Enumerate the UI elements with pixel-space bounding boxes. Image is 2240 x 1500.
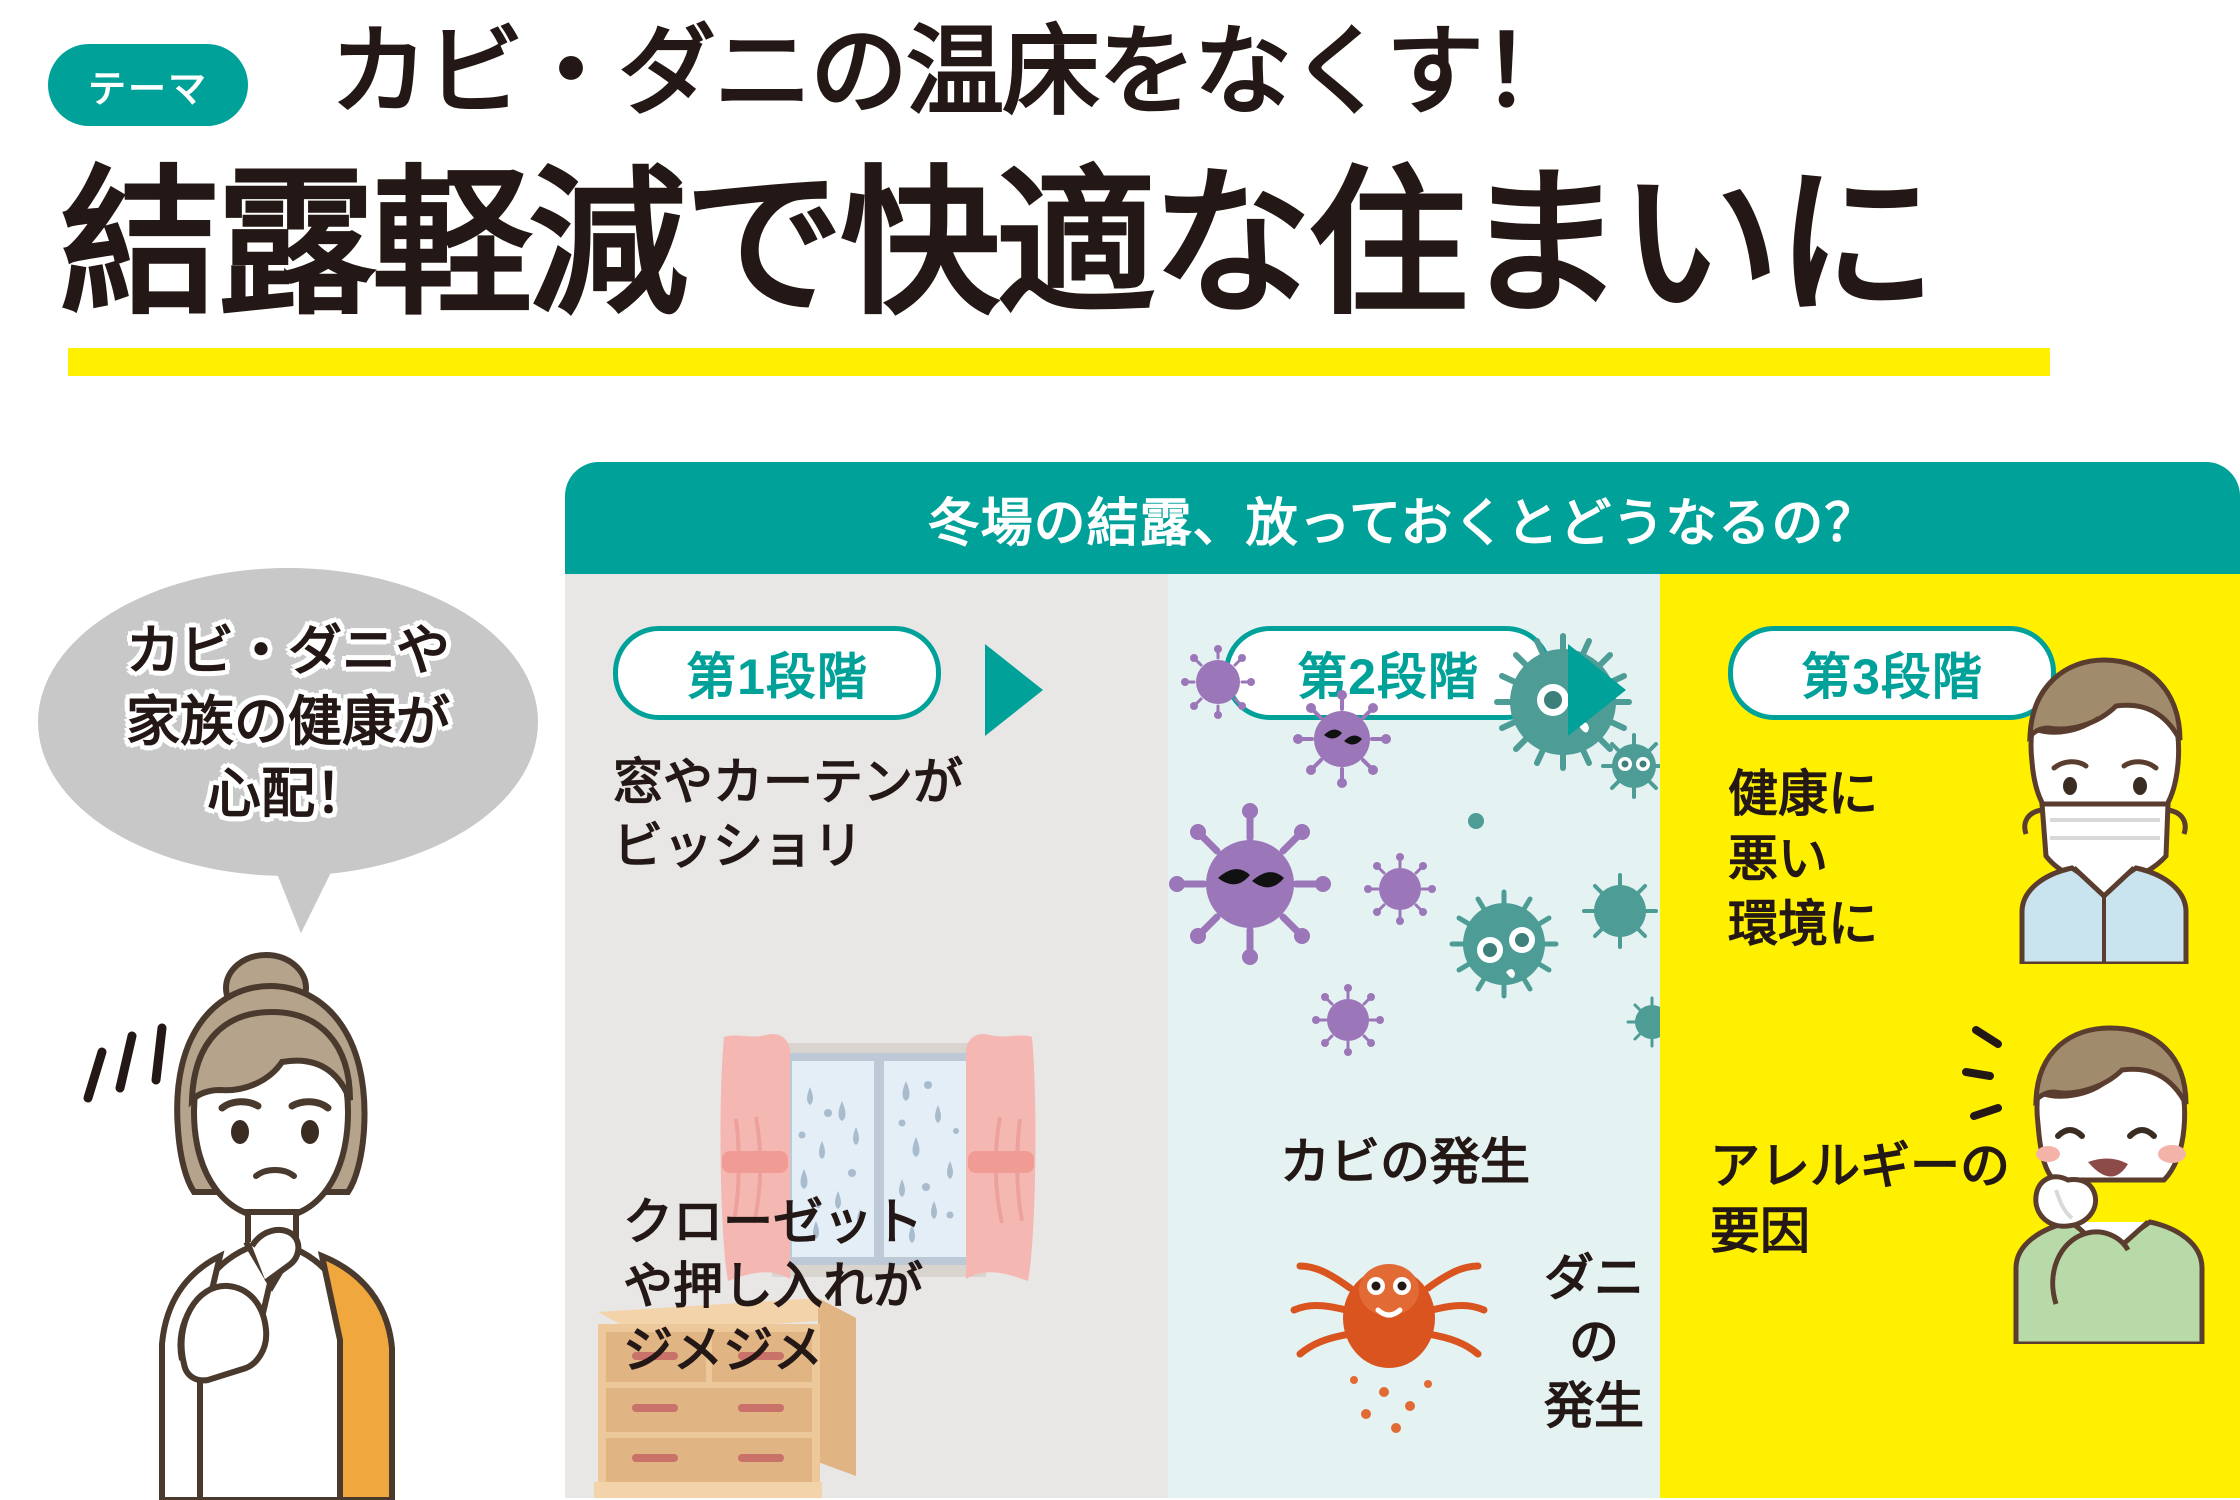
arrow-stage-2-to-3 xyxy=(1568,644,1626,736)
stage-2: 第2段階 xyxy=(1168,574,1660,1498)
caption-line: 健康に xyxy=(1728,762,1878,827)
stage-2-caption-mold: カビの発生 xyxy=(1280,1130,1530,1194)
theme-badge-label: テーマ xyxy=(88,58,208,113)
bubble-line-2: 家族の健康が xyxy=(38,687,538,758)
main-panel: 冬場の結露、放っておくとどうなるの？ 第1段階 窓やカーテンが ビッショリ xyxy=(565,462,2240,1498)
stage-1-label: 第1段階 xyxy=(686,637,868,709)
bubble-line-1: カビ・ダニや xyxy=(38,616,538,687)
worried-woman-illustration xyxy=(70,940,490,1500)
speech-bubble-text: カビ・ダニや 家族の健康が 心配！ xyxy=(38,616,538,830)
header: テーマ カビ・ダニの温床をなくす！ 結露軽減で快適な住まいに xyxy=(0,0,2240,400)
left-column: カビ・ダニや 家族の健康が 心配！ xyxy=(0,540,560,1498)
man-with-mask-illustration xyxy=(1970,644,2230,964)
boy-sneezing-illustration xyxy=(1960,1004,2240,1344)
stages-row: 第1段階 窓やカーテンが ビッショリ xyxy=(565,574,2240,1498)
caption-line: クローゼット xyxy=(623,1190,923,1254)
caption-line: 発生 xyxy=(1528,1374,1660,1438)
caption-line: 悪い xyxy=(1728,827,1878,892)
caption-line: ダニの xyxy=(1528,1246,1660,1374)
stage-1-pill: 第1段階 xyxy=(613,626,941,720)
page-title-line2: 結露軽減で快適な住まいに xyxy=(60,160,1932,328)
dust-mite-illustration xyxy=(1288,1214,1518,1464)
stage-1: 第1段階 窓やカーテンが ビッショリ xyxy=(565,574,1168,1498)
panel-banner-text: 冬場の結露、放っておくとどうなるの？ xyxy=(928,481,1878,556)
caption-line: ジメジメ xyxy=(623,1318,923,1382)
stage-3: 第3段階 健康に 悪い 環境に xyxy=(1660,574,2240,1498)
bubble-line-3: 心配！ xyxy=(38,759,538,830)
caption-line: カビの発生 xyxy=(1280,1130,1530,1194)
panel-banner: 冬場の結露、放っておくとどうなるの？ xyxy=(565,462,2240,574)
infographic-canvas: テーマ カビ・ダニの温床をなくす！ 結露軽減で快適な住まいに カビ・ダニや 家族… xyxy=(0,0,2240,1498)
stage-1-caption-window: 窓やカーテンが ビッショリ xyxy=(613,750,963,878)
caption-line: 環境に xyxy=(1728,892,1878,957)
stage-3-caption-health: 健康に 悪い 環境に xyxy=(1728,762,1878,957)
stage-2-caption-mite: ダニの 発生 xyxy=(1528,1246,1660,1438)
page-title-line1: カビ・ダニの温床をなくす！ xyxy=(330,20,1578,123)
caption-line: や押し入れが xyxy=(623,1254,923,1318)
title-underline xyxy=(68,348,2050,376)
stage-3-label: 第3段階 xyxy=(1801,637,1983,709)
caption-line: ビッショリ xyxy=(613,814,963,878)
theme-badge: テーマ xyxy=(48,44,248,126)
speech-bubble: カビ・ダニや 家族の健康が 心配！ xyxy=(38,568,538,898)
stage-1-caption-closet: クローゼット や押し入れが ジメジメ xyxy=(623,1190,923,1382)
caption-line: 窓やカーテンが xyxy=(613,750,963,814)
arrow-stage-1-to-2 xyxy=(985,644,1043,736)
